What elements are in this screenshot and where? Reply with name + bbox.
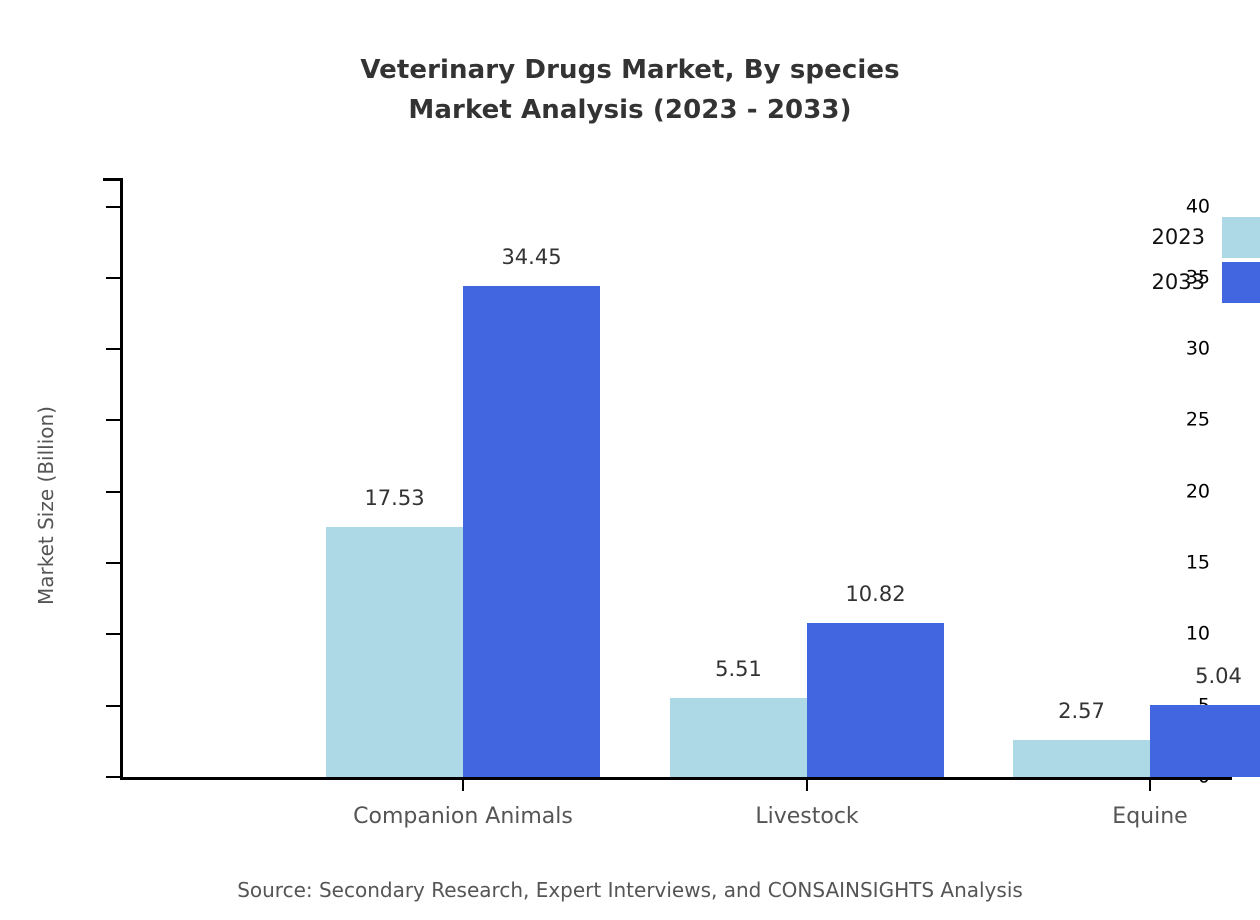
bar-value-label: 17.53 bbox=[364, 488, 424, 509]
x-axis-tick-label: Livestock bbox=[755, 806, 858, 828]
y-axis-tick bbox=[106, 562, 120, 564]
bar-2023-companion-animals[interactable] bbox=[326, 527, 463, 777]
bar-value-label: 10.82 bbox=[845, 584, 905, 605]
y-axis-tick-label: 15 bbox=[1186, 554, 1210, 573]
y-axis-tick-label: 25 bbox=[1186, 411, 1210, 430]
x-axis-tick-label: Companion Animals bbox=[353, 806, 573, 828]
source-note: Source: Secondary Research, Expert Inter… bbox=[0, 878, 1260, 902]
y-axis-tick bbox=[106, 348, 120, 350]
legend-item-2033[interactable]: 2033 bbox=[1120, 260, 1260, 305]
legend-label-2023: 2023 bbox=[1152, 227, 1205, 248]
y-axis-line bbox=[120, 178, 123, 780]
bar-value-label: 2.57 bbox=[1058, 701, 1105, 722]
y-axis-tick bbox=[106, 491, 120, 493]
legend-label-2033: 2033 bbox=[1152, 272, 1205, 293]
y-axis-tick-label: 30 bbox=[1186, 340, 1210, 359]
bar-chart: Veterinary Drugs Market, By species Mark… bbox=[0, 0, 1260, 920]
x-axis-tick-label: Equine bbox=[1112, 806, 1187, 828]
legend-swatch-2023 bbox=[1222, 217, 1260, 258]
chart-title-line-1: Veterinary Drugs Market, By species bbox=[360, 55, 899, 85]
bar-value-label: 34.45 bbox=[501, 247, 561, 268]
y-axis-tick bbox=[106, 633, 120, 635]
bar-2033-livestock[interactable] bbox=[807, 623, 944, 777]
y-axis-tick-label: 20 bbox=[1186, 482, 1210, 501]
y-axis-tick-label: 40 bbox=[1186, 197, 1210, 216]
legend: 2023 2033 bbox=[1120, 215, 1260, 305]
x-axis-line bbox=[120, 777, 1232, 780]
x-axis-tick bbox=[1149, 780, 1151, 791]
bar-2033-equine[interactable] bbox=[1150, 705, 1260, 777]
legend-swatch-2033 bbox=[1222, 262, 1260, 303]
y-axis-tick-label: 10 bbox=[1186, 625, 1210, 644]
y-axis-tick bbox=[106, 419, 120, 421]
x-axis-tick bbox=[462, 780, 464, 791]
bar-value-label: 5.51 bbox=[715, 659, 762, 680]
y-axis-tick bbox=[106, 705, 120, 707]
chart-title-line-2: Market Analysis (2023 - 2033) bbox=[0, 90, 1260, 130]
bar-2033-companion-animals[interactable] bbox=[463, 286, 600, 777]
y-axis-tick bbox=[106, 277, 120, 279]
y-axis-top-cap bbox=[103, 178, 123, 181]
bar-2023-livestock[interactable] bbox=[670, 698, 807, 777]
legend-item-2023[interactable]: 2023 bbox=[1120, 215, 1260, 260]
bar-value-label: 5.04 bbox=[1195, 666, 1242, 687]
x-axis-tick bbox=[806, 780, 808, 791]
bar-2023-equine[interactable] bbox=[1013, 740, 1150, 777]
y-axis-tick bbox=[106, 206, 120, 208]
page-title: Veterinary Drugs Market, By species Mark… bbox=[0, 50, 1260, 130]
plot-area: 0510152025303540 17.5334.455.5110.822.57… bbox=[120, 178, 1232, 780]
y-axis-title: Market Size (Billion) bbox=[34, 406, 58, 605]
y-axis-tick bbox=[106, 776, 120, 778]
